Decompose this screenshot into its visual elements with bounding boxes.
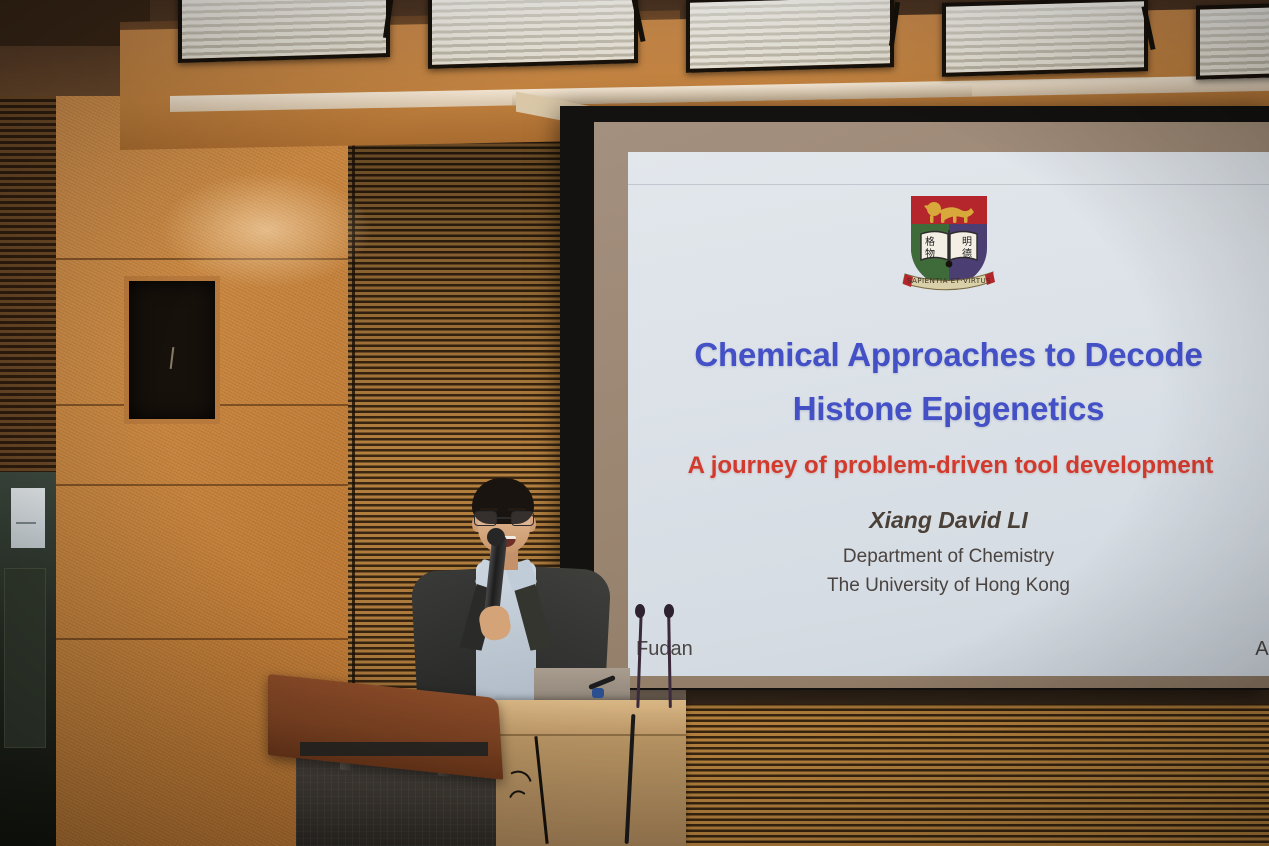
lower-wall-trim xyxy=(686,690,1269,704)
slide-title: Chemical Approaches to Decode Histone Ep… xyxy=(628,328,1269,436)
lens-right xyxy=(511,511,534,526)
svg-text:格: 格 xyxy=(925,235,935,248)
wall-niche xyxy=(124,276,220,424)
microphone-head xyxy=(487,528,505,546)
table-rear-block xyxy=(534,668,630,704)
slide-title-line-1: Chemical Approaches to Decode xyxy=(628,328,1269,382)
lectern-front-panel xyxy=(300,742,488,756)
svg-text:明: 明 xyxy=(962,236,972,248)
hku-crest-logo: 格 物 明 德 SAPIENTIA·ET·VIRTUS xyxy=(901,190,997,302)
svg-text:德: 德 xyxy=(962,247,972,260)
wall-seam-4 xyxy=(56,638,348,640)
slide-affiliation: Department of Chemistry The University o… xyxy=(628,542,1269,600)
gooseneck-mic-head-1 xyxy=(635,604,645,618)
slide-footer-right: April 20 xyxy=(1255,638,1269,661)
ceiling-light-fixture-3 xyxy=(686,0,894,73)
slide-author: Xiang David LI xyxy=(628,507,1269,534)
slide-title-line-2: Histone Epigenetics xyxy=(628,382,1269,436)
doorway-panel xyxy=(4,568,46,748)
wall-light-spot xyxy=(156,170,376,290)
doorway-poster xyxy=(11,488,45,548)
svg-text:物: 物 xyxy=(925,247,935,260)
ceiling-light-fixture-1 xyxy=(178,0,390,63)
poster-text-line xyxy=(16,522,36,524)
niche-glint xyxy=(170,347,175,369)
projected-slide: 格 物 明 德 SAPIENTIA·ET·VIRTUS Chemical App… xyxy=(628,152,1269,676)
affiliation-department: Department of Chemistry xyxy=(628,542,1269,571)
slide-footer-left: Fudan xyxy=(636,638,693,661)
eyeglasses xyxy=(474,511,534,526)
slide-subtitle: A journey of problem-driven tool develop… xyxy=(628,452,1269,480)
gooseneck-mic-head-2 xyxy=(664,604,674,618)
affiliation-institution: The University of Hong Kong xyxy=(628,571,1269,600)
ceiling-light-fixture-5 xyxy=(1196,2,1269,79)
glasses-bridge xyxy=(497,517,511,519)
lower-wall-slats xyxy=(686,700,1269,846)
side-doorway xyxy=(0,472,56,846)
ceiling-light-fixture-4 xyxy=(942,0,1148,77)
svg-text:SAPIENTIA·ET·VIRTUS: SAPIENTIA·ET·VIRTUS xyxy=(906,276,990,285)
lecture-hall-photo: 格 物 明 德 SAPIENTIA·ET·VIRTUS Chemical App… xyxy=(0,0,1269,846)
blue-connector-plug xyxy=(592,688,604,698)
wall-seam-3 xyxy=(56,484,348,486)
lens-left xyxy=(474,511,497,526)
side-table-top xyxy=(494,700,686,736)
wall-seam-1 xyxy=(56,258,348,260)
ceiling-light-fixture-2 xyxy=(428,0,638,69)
